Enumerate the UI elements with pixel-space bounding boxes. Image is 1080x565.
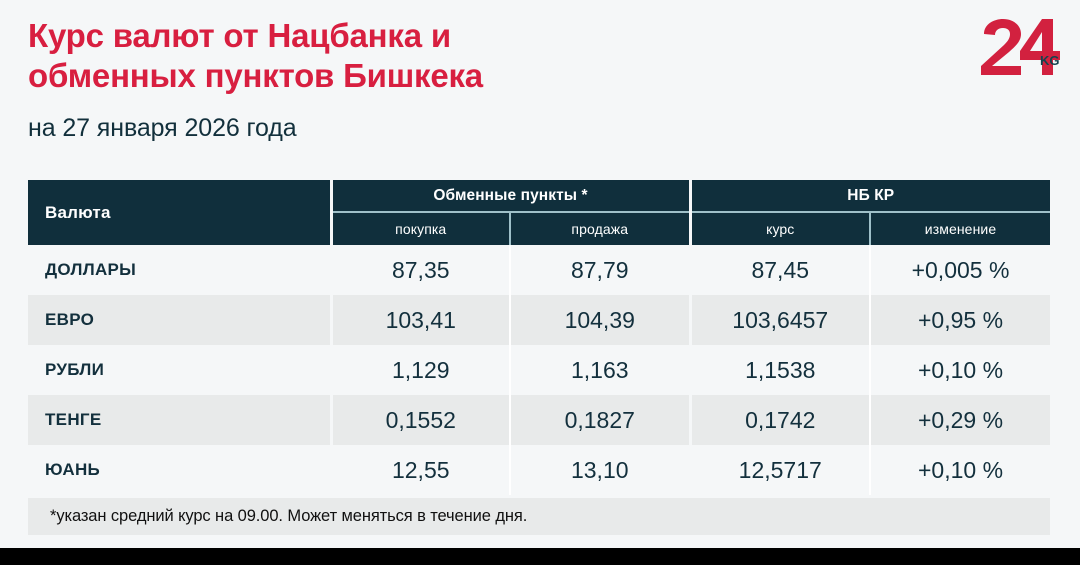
header-currency: Валюта — [28, 180, 331, 245]
infographic-page: Курс валют от Нацбанка и обменных пункто… — [0, 0, 1080, 548]
table-row: ЮАНЬ12,5513,1012,5717+0,10 % — [28, 445, 1050, 495]
header-block: Курс валют от Нацбанка и обменных пункто… — [28, 16, 958, 143]
cell-currency: ТЕНГЕ — [28, 395, 331, 445]
cell-sell: 13,10 — [510, 445, 690, 495]
header-sub-change: изменение — [870, 212, 1050, 245]
cell-buy: 87,35 — [331, 245, 510, 295]
cell-buy: 12,55 — [331, 445, 510, 495]
svg-text:KG: KG — [1040, 53, 1060, 68]
rates-table-wrapper: Валюта Обменные пункты * НБ КР покупка п… — [28, 180, 1050, 535]
page-title: Курс валют от Нацбанка и обменных пункто… — [28, 16, 958, 97]
table-footnote: *указан средний курс на 09.00. Может мен… — [28, 498, 1050, 535]
table-row: ЕВРО103,41104,39103,6457+0,95 % — [28, 295, 1050, 345]
cell-currency: ЕВРО — [28, 295, 331, 345]
header-group-exchange-points: Обменные пункты * — [331, 180, 690, 212]
cell-currency: ЮАНЬ — [28, 445, 331, 495]
table-row: РУБЛИ1,1291,1631,1538+0,10 % — [28, 345, 1050, 395]
cell-change: +0,005 % — [870, 245, 1050, 295]
table-body: ДОЛЛАРЫ87,3587,7987,45+0,005 %ЕВРО103,41… — [28, 245, 1050, 495]
cell-buy: 103,41 — [331, 295, 510, 345]
cell-sell: 1,163 — [510, 345, 690, 395]
cell-change: +0,95 % — [870, 295, 1050, 345]
cell-rate: 1,1538 — [690, 345, 870, 395]
cell-rate: 87,45 — [690, 245, 870, 295]
page-subtitle: на 27 января 2026 года — [28, 97, 958, 143]
currency-rates-table: Валюта Обменные пункты * НБ КР покупка п… — [28, 180, 1050, 495]
cell-currency: ДОЛЛАРЫ — [28, 245, 331, 295]
cell-change: +0,29 % — [870, 395, 1050, 445]
brand-logo-24kg: KG — [978, 18, 1064, 76]
table-row: ТЕНГЕ0,15520,18270,1742+0,29 % — [28, 395, 1050, 445]
table-row: ДОЛЛАРЫ87,3587,7987,45+0,005 % — [28, 245, 1050, 295]
header-sub-rate: курс — [690, 212, 870, 245]
cell-rate: 103,6457 — [690, 295, 870, 345]
header-sub-buy: покупка — [331, 212, 510, 245]
cell-sell: 0,1827 — [510, 395, 690, 445]
cell-change: +0,10 % — [870, 445, 1050, 495]
logo-kg-text: KG — [1040, 52, 1066, 68]
bottom-black-bar — [0, 548, 1080, 565]
header-sub-sell: продажа — [510, 212, 690, 245]
cell-sell: 87,79 — [510, 245, 690, 295]
cell-change: +0,10 % — [870, 345, 1050, 395]
cell-rate: 0,1742 — [690, 395, 870, 445]
cell-rate: 12,5717 — [690, 445, 870, 495]
cell-buy: 0,1552 — [331, 395, 510, 445]
table-header-row-groups: Валюта Обменные пункты * НБ КР — [28, 180, 1050, 212]
cell-sell: 104,39 — [510, 295, 690, 345]
cell-buy: 1,129 — [331, 345, 510, 395]
header-group-nbkr: НБ КР — [690, 180, 1050, 212]
table-head: Валюта Обменные пункты * НБ КР покупка п… — [28, 180, 1050, 245]
cell-currency: РУБЛИ — [28, 345, 331, 395]
